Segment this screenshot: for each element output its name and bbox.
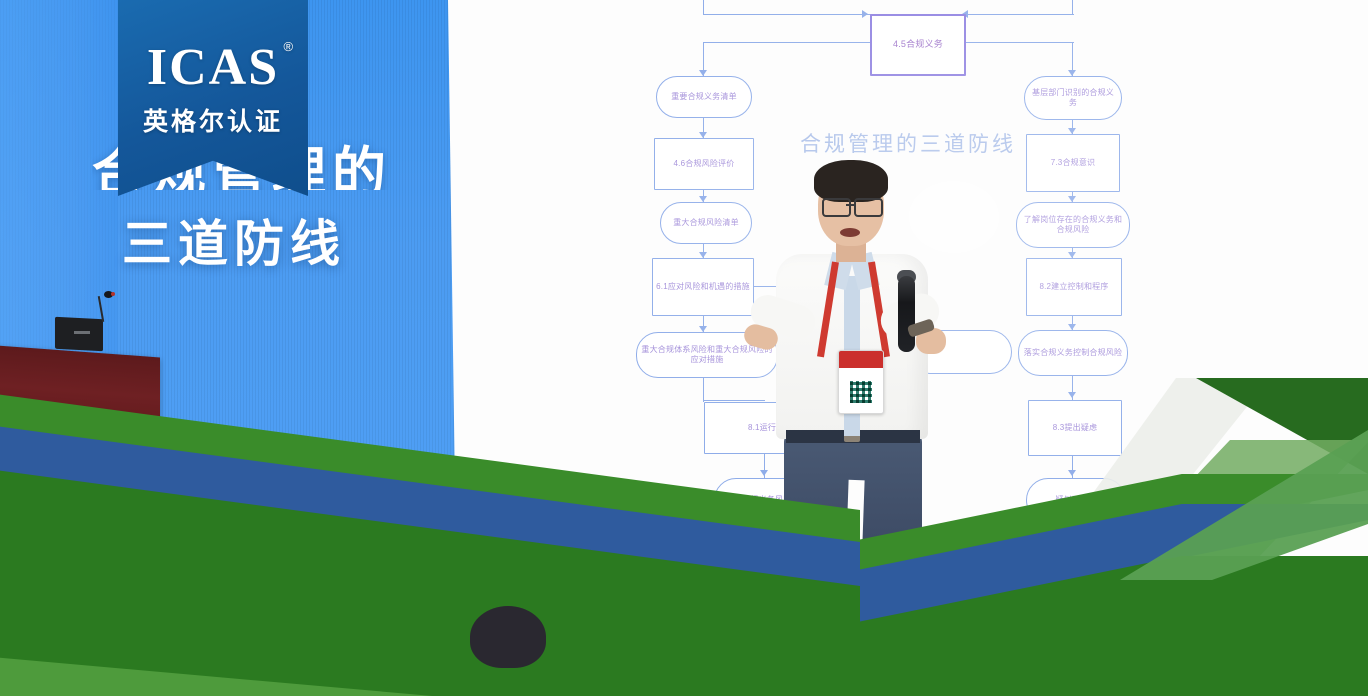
handheld-microphone [898,276,915,352]
flow-node-core[interactable]: 4.5合规义务 [870,14,966,76]
icas-wordmark: ICAS ® [147,42,279,94]
glasses-icon [822,198,851,217]
flow-node[interactable]: 了解岗位存在的合规义务和合规风险 [1016,202,1130,248]
connector [703,14,871,15]
flow-node[interactable]: 重大合规风险清单 [660,202,752,244]
icas-wordmark-text: ICAS [147,39,279,96]
connector [966,14,1074,15]
speaker-hair [814,160,888,202]
flow-node[interactable]: 6.1应对风险和机遇的措施 [652,258,754,316]
registered-mark-icon: ® [284,40,296,53]
connector-arrow [862,10,868,18]
glasses-icon [854,198,883,217]
microphone-indicator-icon [111,292,115,296]
connector [703,42,871,43]
flow-node[interactable]: 基层部门识别的合规义务 [1024,76,1122,120]
icas-logo-subtitle: 英格尔认证 [143,102,283,138]
wall-headline-line2: 三道防线 [122,204,346,276]
speaker-mouth [840,228,860,237]
speaker-badge [838,350,884,414]
flow-node[interactable]: 4.6合规风险评价 [654,138,754,190]
connector [1072,0,1073,14]
presentation-photo-stage: 4.5合规义务 重要合规义务清单 4.6合规风险评价 重大合规风险清单 6.1应… [0,0,1368,696]
badge-header [839,351,883,368]
flow-node[interactable]: 落实合规义务控制合规风险 [1018,330,1128,376]
connector [703,0,704,14]
glasses-bridge-icon [846,204,855,206]
connector [966,42,1074,43]
connector [703,378,704,402]
flow-node[interactable]: 8.3提出疑虑 [1028,400,1122,456]
connector-arrow [1068,392,1076,398]
flow-node[interactable]: 8.2建立控制和程序 [1026,258,1122,316]
flow-node[interactable]: 重要合规义务清单 [656,76,752,118]
podium-monitor-detail [74,331,90,334]
podium-monitor [55,317,103,352]
flow-node[interactable]: 7.3合规意识 [1026,134,1120,192]
qr-code-icon [850,381,872,403]
audience-head [470,606,546,668]
connector-arrow [1068,470,1076,476]
